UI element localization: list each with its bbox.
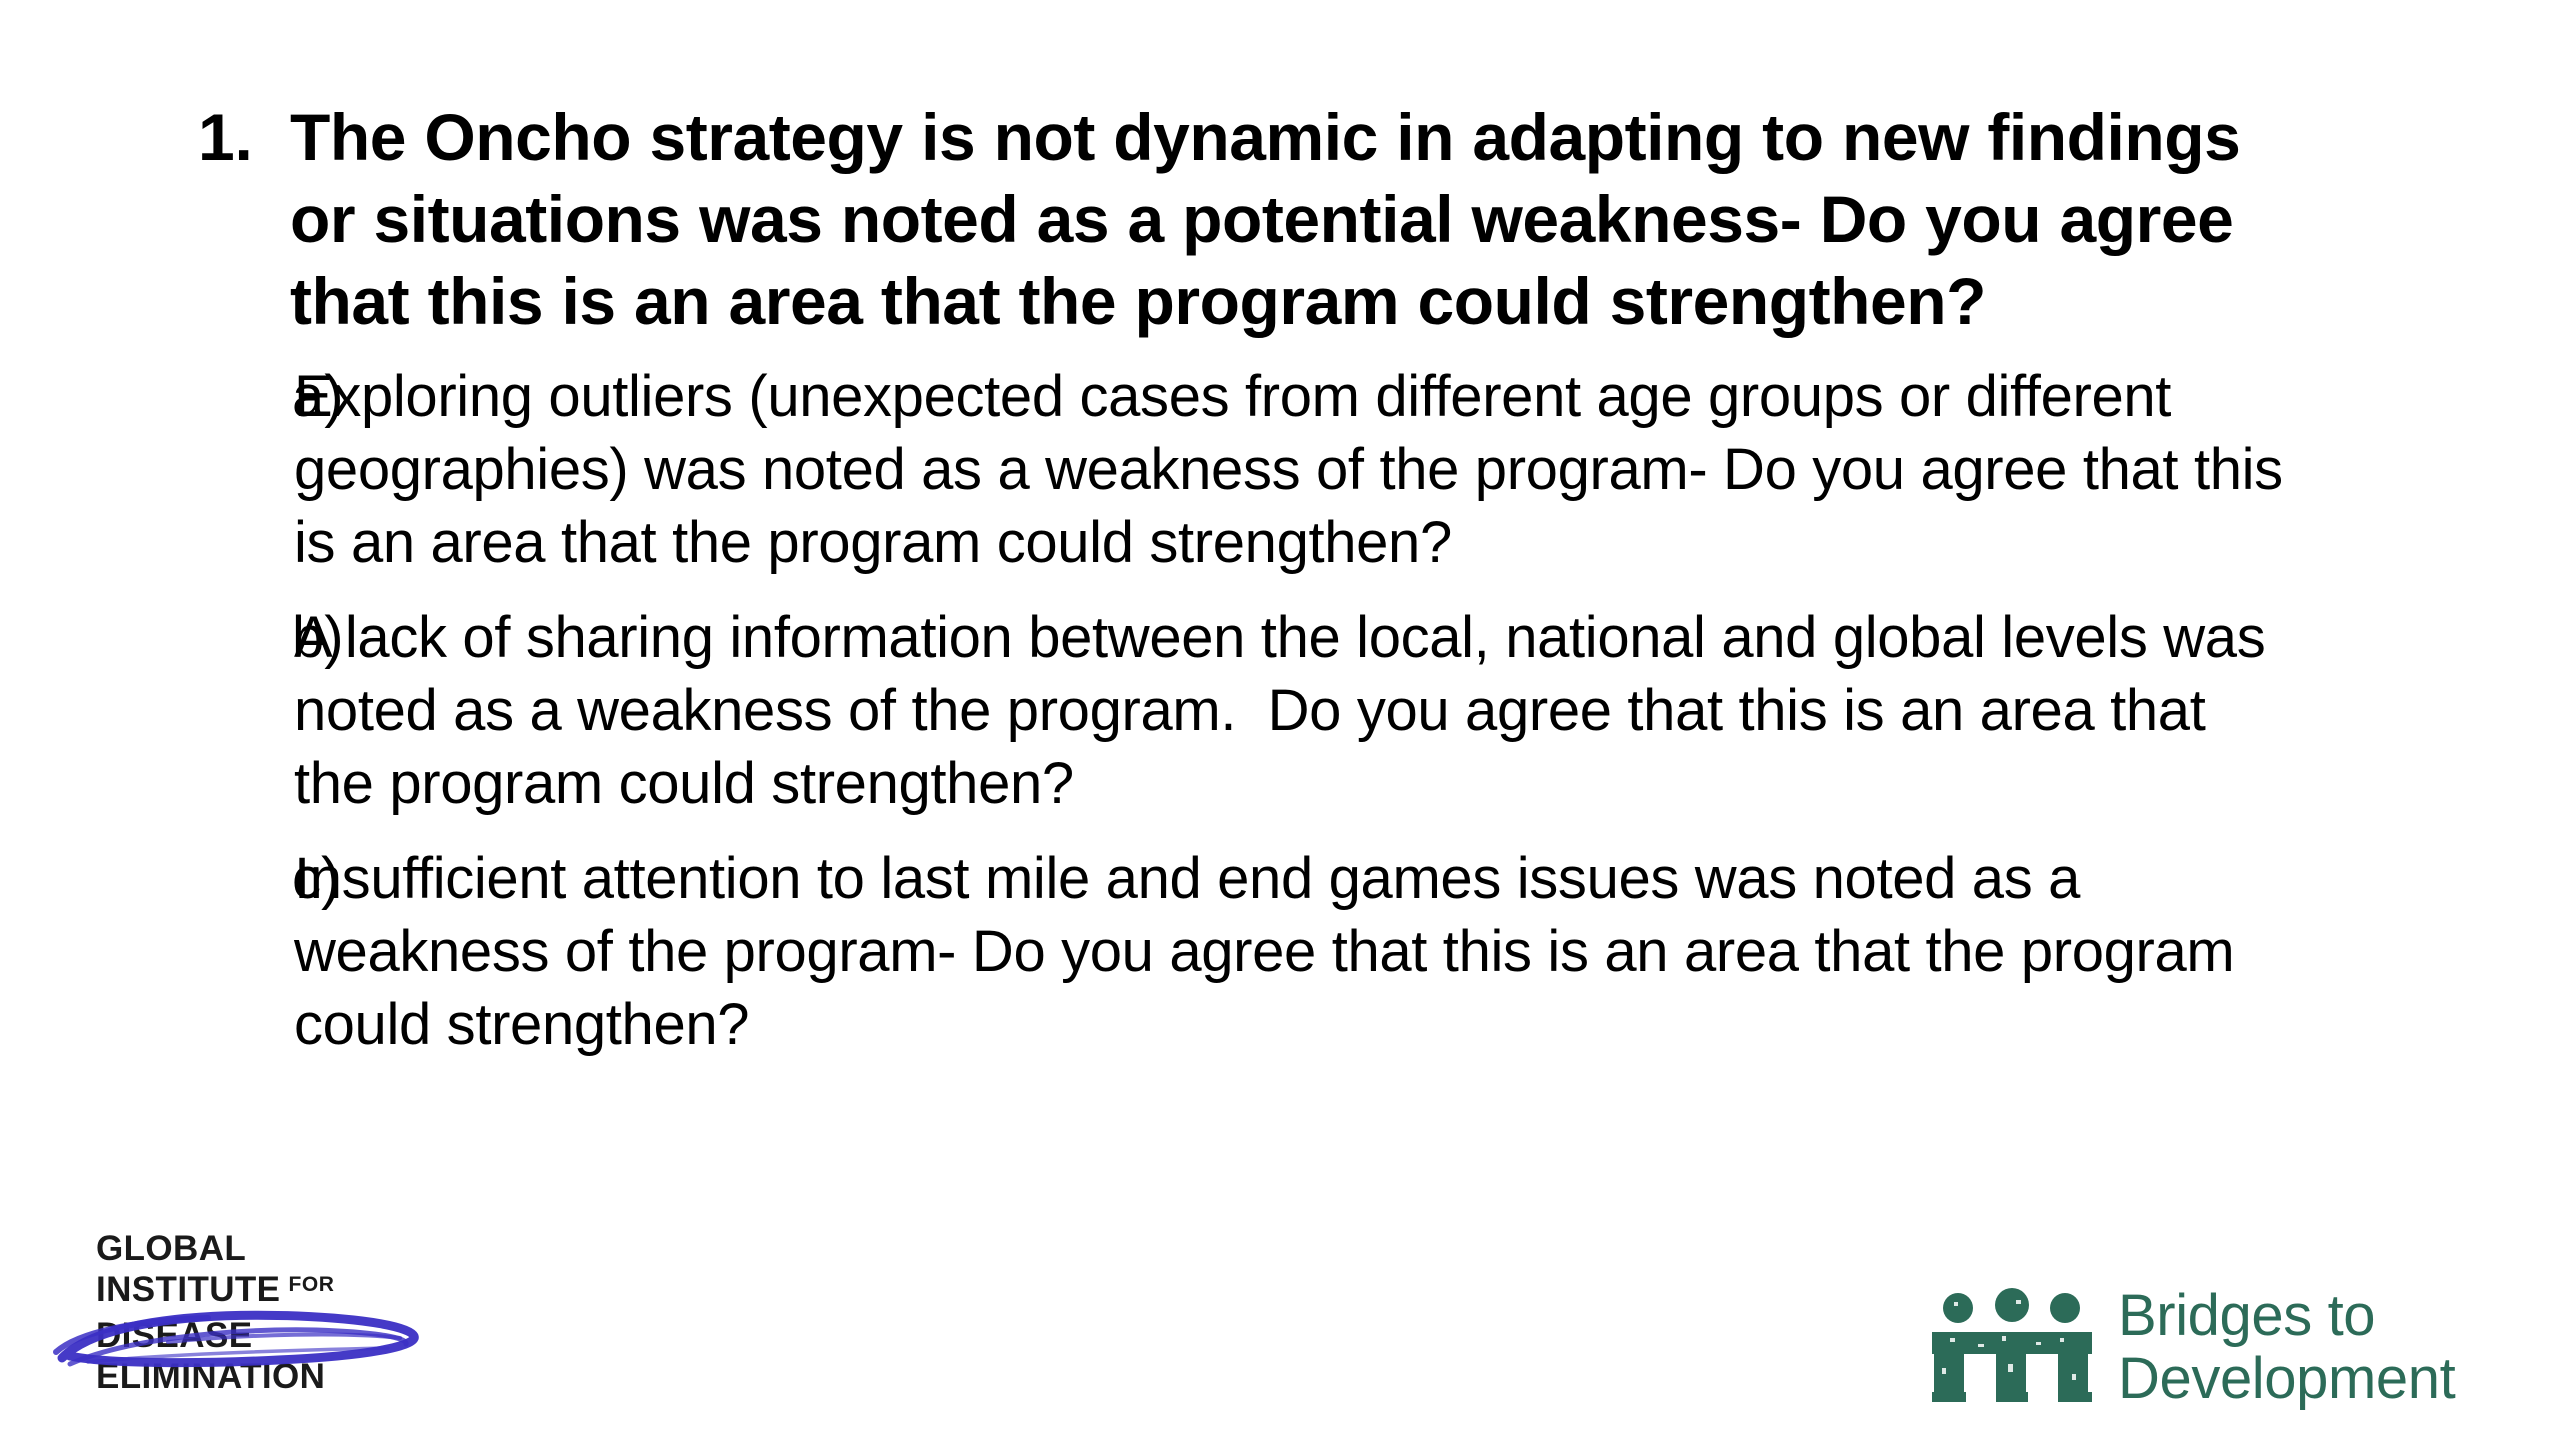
list-item-a: a) Exploring outliers (unexpected cases … [186, 360, 2386, 579]
list-text-c: Insufficient attention to last mile and … [294, 842, 2284, 1061]
gide-line-elimination: ELIMINATION [96, 1356, 468, 1397]
list-text-a: Exploring outliers (unexpected cases fro… [294, 360, 2284, 579]
list-marker-a: a) [186, 360, 294, 433]
gide-for-superscript: FOR [288, 1273, 334, 1296]
list-marker-1: 1. [186, 96, 290, 178]
bridges-line-1: Bridges to [2118, 1284, 2455, 1347]
list-item-c: c) Insufficient attention to last mile a… [186, 842, 2386, 1061]
gide-institute-word: INSTITUTE [96, 1270, 280, 1309]
gide-logo: GLOBAL INSTITUTEFOR DISEASE ELIMINATION [48, 1228, 468, 1418]
bridges-logo-text: Bridges to Development [2118, 1284, 2455, 1410]
gide-logo-text: GLOBAL INSTITUTEFOR DISEASE ELIMINATION [48, 1228, 468, 1397]
bridge-with-figures-icon [1932, 1288, 2092, 1406]
gide-line-institute: INSTITUTEFOR [96, 1269, 468, 1315]
bridges-line-2: Development [2118, 1347, 2455, 1410]
slide-canvas: 1. The Oncho strategy is not dynamic in … [0, 0, 2560, 1440]
bridges-to-development-logo: Bridges to Development [1932, 1272, 2532, 1422]
list-text-level1: The Oncho strategy is not dynamic in ada… [290, 96, 2300, 342]
list-marker-b: b) [186, 601, 294, 674]
list-item-b: b) A lack of sharing information between… [186, 601, 2386, 820]
list-text-b: A lack of sharing information between th… [294, 601, 2284, 820]
list-marker-c: c) [186, 842, 294, 915]
slide-content: 1. The Oncho strategy is not dynamic in … [186, 96, 2386, 1061]
gide-line-disease: DISEASE [96, 1315, 468, 1356]
sub-list: a) Exploring outliers (unexpected cases … [186, 360, 2386, 1061]
list-item-level1: 1. The Oncho strategy is not dynamic in … [186, 96, 2376, 342]
gide-line-global: GLOBAL [96, 1228, 468, 1269]
